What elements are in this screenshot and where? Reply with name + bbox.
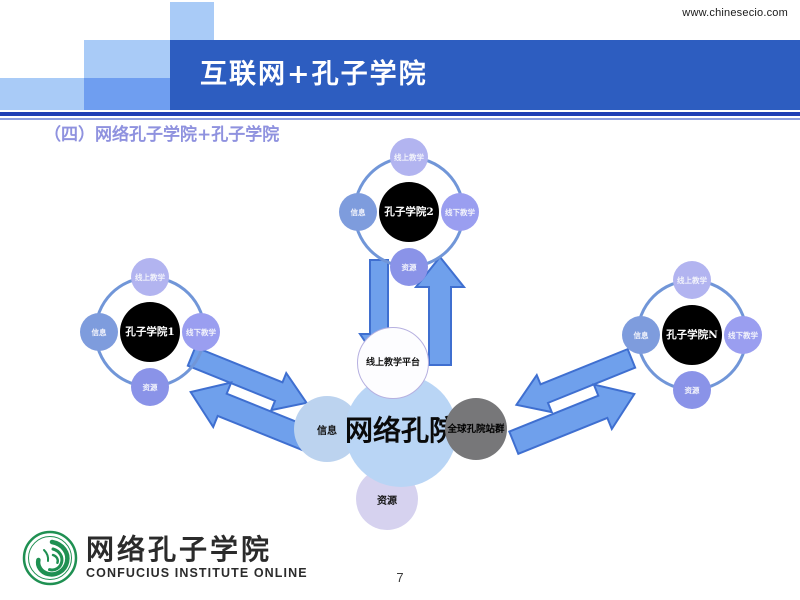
diagram-canvas: 线上教学 线下教学 资源 信息 孔子学院2 线上教学 线下教学 资源 信息 孔子… bbox=[0, 0, 800, 600]
satellite-resource[interactable]: 资源 bbox=[131, 368, 169, 406]
page-number: 7 bbox=[0, 570, 800, 585]
cluster-hub-label[interactable]: 孔子学院1 bbox=[120, 302, 180, 362]
logo-text-cn: 网络孔子学院 bbox=[86, 528, 272, 568]
satellite-resource[interactable]: 资源 bbox=[673, 371, 711, 409]
core-node-online-platform[interactable]: 线上教学平台 bbox=[357, 327, 429, 399]
satellite-online-teaching[interactable]: 线上教学 bbox=[131, 258, 169, 296]
satellite-information[interactable]: 信息 bbox=[80, 313, 118, 351]
satellite-offline-teaching[interactable]: 线下教学 bbox=[182, 313, 220, 351]
satellite-online-teaching[interactable]: 线上教学 bbox=[673, 261, 711, 299]
core-node-global-sites[interactable]: 全球孔院站群 bbox=[445, 398, 507, 460]
cluster-ci-2[interactable]: 线上教学 线下教学 资源 信息 孔子学院2 bbox=[339, 142, 479, 282]
cluster-hub-label[interactable]: 孔子学院2 bbox=[379, 182, 439, 242]
satellite-resource[interactable]: 资源 bbox=[390, 248, 428, 286]
satellite-information[interactable]: 信息 bbox=[339, 193, 377, 231]
satellite-online-teaching[interactable]: 线上教学 bbox=[390, 138, 428, 176]
cluster-ci-1[interactable]: 线上教学 线下教学 资源 信息 孔子学院1 bbox=[80, 262, 220, 402]
cluster-hub-label[interactable]: 孔子学院N bbox=[662, 305, 722, 365]
satellite-offline-teaching[interactable]: 线下教学 bbox=[724, 316, 762, 354]
slide: www.chinesecio.com 互联网+孔子学院 （四）网络孔子学院+孔子… bbox=[0, 0, 800, 600]
satellite-information[interactable]: 信息 bbox=[622, 316, 660, 354]
cluster-ci-n[interactable]: 线上教学 线下教学 资源 信息 孔子学院N bbox=[622, 265, 762, 405]
core-cluster[interactable]: 信息 资源 网络孔院 线上教学平台 全球孔院站群 bbox=[290, 340, 510, 540]
satellite-offline-teaching[interactable]: 线下教学 bbox=[441, 193, 479, 231]
